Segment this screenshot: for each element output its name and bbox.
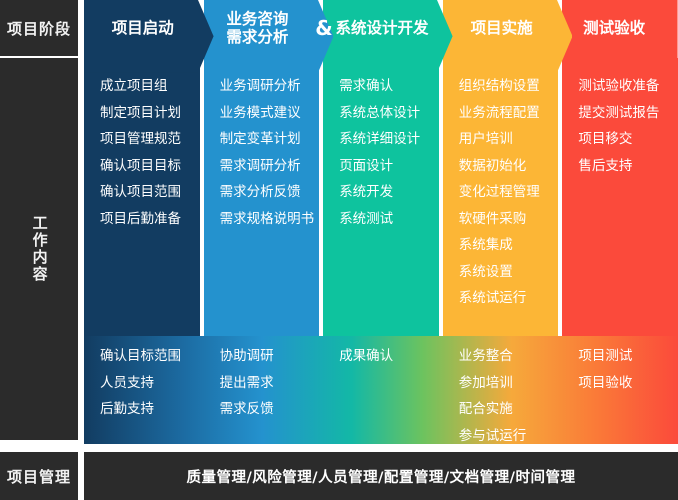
client-column-5: 项目测试项目验收	[562, 336, 678, 444]
work-item: 确认项目目标	[100, 160, 200, 174]
stage-header-4-label: 项目实施	[443, 0, 573, 56]
work-item: 页面设计	[339, 160, 439, 174]
client-item: 项目验收	[578, 377, 678, 391]
client-list-2: 协助调研提出需求需求反馈	[204, 336, 320, 417]
client-item: 协助调研	[220, 350, 320, 364]
ampersand-glyph: &	[315, 18, 332, 38]
work-item: 需求确认	[339, 80, 439, 94]
client-columns: 确认目标范围人员支持后勤支持 协助调研提出需求需求反馈 成果确认 业务整合参加培…	[84, 336, 678, 444]
work-list-4: 组织结构设置业务流程配置用户培训数据初始化变化过程管理软硬件采购系统集成系统设置…	[443, 58, 559, 306]
work-item: 制定项目计划	[100, 107, 200, 121]
client-column-4: 业务整合参加培训配合实施参与试运行	[443, 336, 559, 444]
client-responsibility-band: 确认目标范围人员支持后勤支持 协助调研提出需求需求反馈 成果确认 业务整合参加培…	[84, 336, 678, 444]
stage-header-4[interactable]: 项目实施	[443, 0, 573, 56]
work-panel-5: 测试验收准备提交测试报告项目移交售后支持	[562, 58, 678, 336]
work-list-5: 测试验收准备提交测试报告项目移交售后支持	[562, 58, 678, 173]
work-item: 系统设置	[459, 266, 559, 280]
work-list-1: 成立项目组制定项目计划项目管理规范确认项目目标确认项目范围项目后勤准备	[84, 58, 200, 226]
work-item: 制定变革计划	[220, 133, 320, 147]
work-panel-1: 成立项目组制定项目计划项目管理规范确认项目目标确认项目范围项目后勤准备	[84, 58, 200, 336]
work-list-2: 业务调研分析业务模式建议制定变革计划需求调研分析需求分析反馈需求规格说明书	[204, 58, 320, 226]
client-item: 人员支持	[100, 377, 200, 391]
client-item: 配合实施	[459, 403, 559, 417]
row-label-work-content-text: 工作内容	[30, 215, 47, 283]
stage-header-2[interactable]: 业务咨询 需求分析 &	[204, 0, 334, 56]
client-item: 项目测试	[578, 350, 678, 364]
client-item: 确认目标范围	[100, 350, 200, 364]
client-item: 参加培训	[459, 377, 559, 391]
work-item: 系统详细设计	[339, 133, 439, 147]
work-item: 系统总体设计	[339, 107, 439, 121]
client-item: 成果确认	[339, 350, 439, 364]
work-item: 系统测试	[339, 213, 439, 227]
project-management-bar-text: 质量管理/风险管理/人员管理/配置管理/文档管理/时间管理	[187, 466, 576, 487]
work-item: 成立项目组	[100, 80, 200, 94]
work-item: 软硬件采购	[459, 213, 559, 227]
stage-header-5-label: 测试验收	[562, 0, 678, 56]
client-list-3: 成果确认	[323, 336, 439, 364]
work-panel-2: 业务调研分析业务模式建议制定变革计划需求调研分析需求分析反馈需求规格说明书	[204, 58, 320, 336]
client-item: 需求反馈	[220, 403, 320, 417]
client-item: 业务整合	[459, 350, 559, 364]
client-list-5: 项目测试项目验收	[562, 336, 678, 390]
work-item: 业务模式建议	[220, 107, 320, 121]
work-panel-4: 组织结构设置业务流程配置用户培训数据初始化变化过程管理软硬件采购系统集成系统设置…	[443, 58, 559, 336]
stage-header-3-label: 系统设计开发	[323, 0, 453, 56]
client-column-2: 协助调研提出需求需求反馈	[204, 336, 320, 444]
work-item: 确认项目范围	[100, 186, 200, 200]
work-item: 需求分析反馈	[220, 186, 320, 200]
row-label-stage: 项目阶段	[0, 0, 78, 56]
work-item: 变化过程管理	[459, 186, 559, 200]
stage-header-3[interactable]: 系统设计开发	[323, 0, 453, 56]
stage-header-2-label: 业务咨询 需求分析	[204, 0, 334, 56]
work-item: 需求规格说明书	[220, 213, 320, 227]
work-item: 系统试运行	[459, 292, 559, 306]
client-list-1: 确认目标范围人员支持后勤支持	[84, 336, 200, 417]
work-item: 测试验收准备	[578, 80, 678, 94]
work-item: 业务调研分析	[220, 80, 320, 94]
client-item: 参与试运行	[459, 430, 559, 444]
stage-header-5[interactable]: 测试验收	[562, 0, 678, 56]
work-item: 数据初始化	[459, 160, 559, 174]
stage-header-1-label: 项目启动	[84, 0, 214, 56]
client-column-3: 成果确认	[323, 336, 439, 444]
work-item: 组织结构设置	[459, 80, 559, 94]
work-item: 项目移交	[578, 133, 678, 147]
client-item: 后勤支持	[100, 403, 200, 417]
work-item: 项目管理规范	[100, 133, 200, 147]
client-list-4: 业务整合参加培训配合实施参与试运行	[443, 336, 559, 443]
work-item: 业务流程配置	[459, 107, 559, 121]
row-label-work-content: 工作内容	[0, 58, 78, 440]
client-column-1: 确认目标范围人员支持后勤支持	[84, 336, 200, 444]
work-item: 需求调研分析	[220, 160, 320, 174]
work-item: 系统开发	[339, 186, 439, 200]
work-item: 系统集成	[459, 239, 559, 253]
work-panel-3: 需求确认系统总体设计系统详细设计页面设计系统开发系统测试	[323, 58, 439, 336]
row-label-project-management: 项目管理	[0, 452, 78, 500]
work-list-3: 需求确认系统总体设计系统详细设计页面设计系统开发系统测试	[323, 58, 439, 226]
work-item: 提交测试报告	[578, 107, 678, 121]
client-item: 提出需求	[220, 377, 320, 391]
stage-header-1[interactable]: 项目启动	[84, 0, 214, 56]
process-flow-board: 项目阶段 工作内容 项目管理 项目启动 业务咨询 需求分析 & 系统设计开发 项…	[0, 0, 678, 500]
work-item: 项目后勤准备	[100, 213, 200, 227]
row-label-project-management-text: 项目管理	[7, 466, 71, 487]
work-item: 用户培训	[459, 133, 559, 147]
work-item: 售后支持	[578, 160, 678, 174]
row-label-stage-text: 项目阶段	[7, 18, 71, 39]
project-management-bar: 质量管理/风险管理/人员管理/配置管理/文档管理/时间管理	[84, 452, 678, 500]
